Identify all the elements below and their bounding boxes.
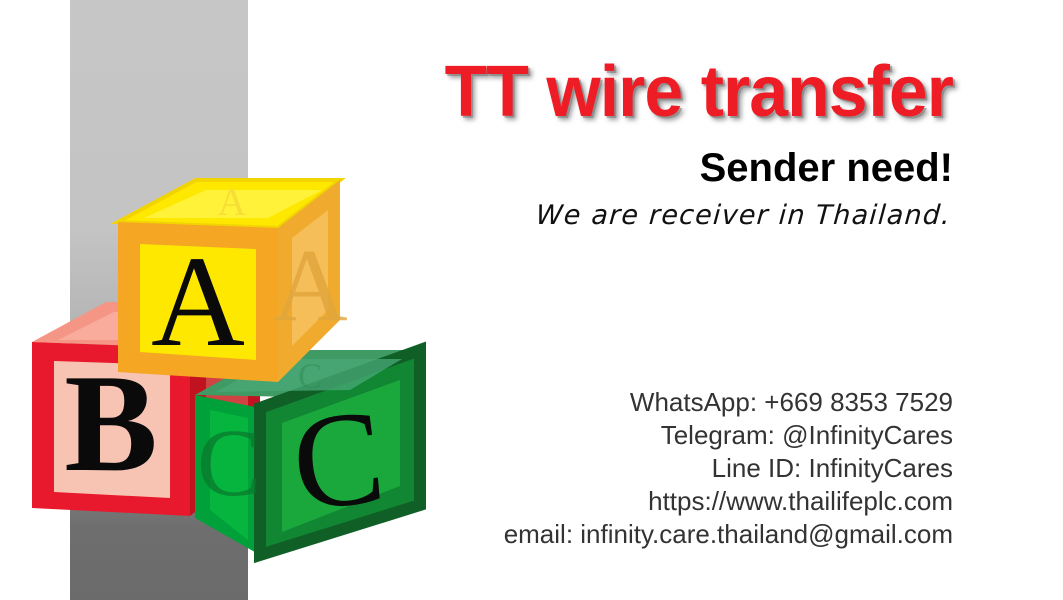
- contact-line-website[interactable]: https://www.thailifeplc.com: [260, 485, 953, 518]
- contact-line-whatsapp: WhatsApp: +669 8353 7529: [260, 386, 953, 419]
- contact-line-telegram: Telegram: @InfinityCares: [260, 419, 953, 452]
- headline-tt-wire-transfer: TT wire transfer: [281, 56, 953, 128]
- svg-text:C: C: [197, 409, 261, 516]
- text-column: TT wire transfer Sender need! We are rec…: [260, 0, 953, 600]
- subheadline-sender-need: Sender need!: [260, 146, 953, 190]
- contact-line-lineid: Line ID: InfinityCares: [260, 452, 953, 485]
- svg-text:A: A: [218, 179, 247, 224]
- svg-text:A: A: [151, 230, 245, 374]
- contact-line-email[interactable]: email: infinity.care.thailand@gmail.com: [260, 518, 953, 551]
- tagline-receiver-thailand: We are receiver in Thailand.: [257, 200, 952, 231]
- banner-canvas: B B C: [0, 0, 1063, 600]
- contact-block: WhatsApp: +669 8353 7529 Telegram: @Infi…: [260, 386, 953, 551]
